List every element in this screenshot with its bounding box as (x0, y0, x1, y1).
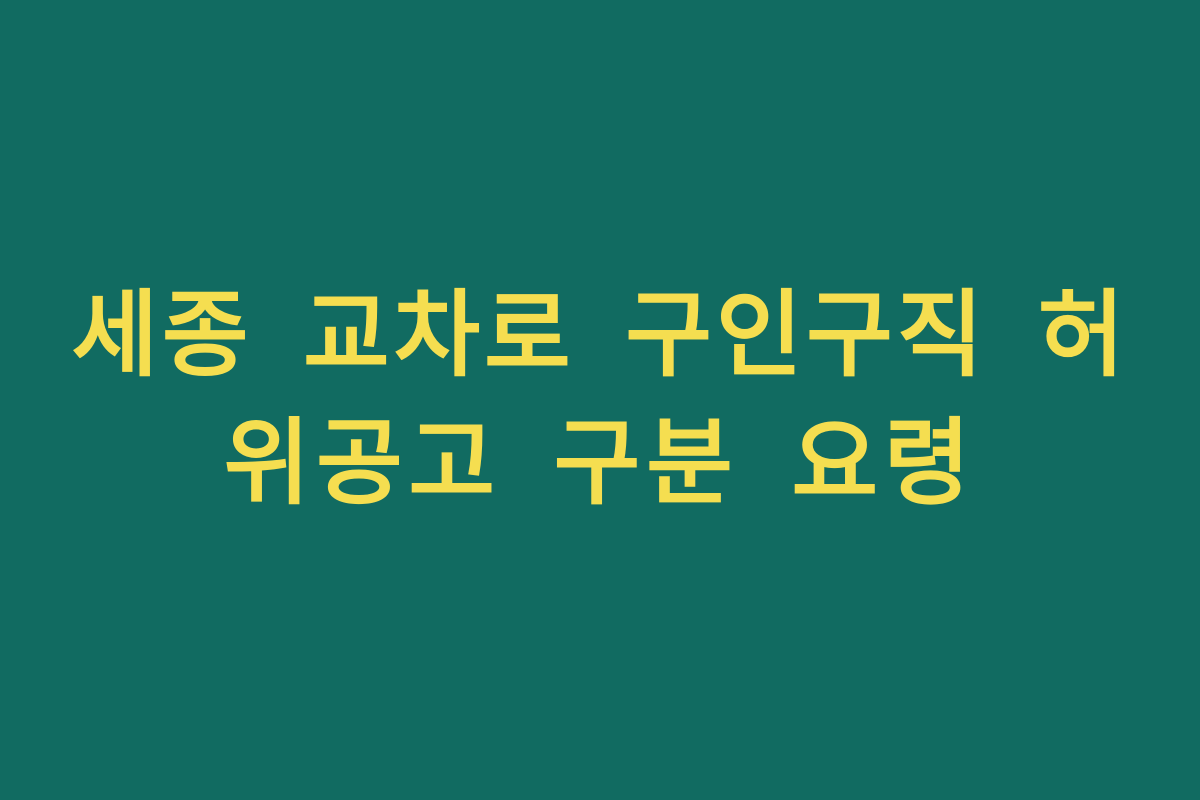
banner-canvas: 세종 교차로 구인구직 허 위공고 구분 요령 (0, 0, 1200, 800)
headline-line-2: 위공고 구분 요령 (45, 400, 1155, 528)
headline-line-1: 세종 교차로 구인구직 허 (45, 272, 1155, 400)
headline-text: 세종 교차로 구인구직 허 위공고 구분 요령 (45, 272, 1155, 528)
